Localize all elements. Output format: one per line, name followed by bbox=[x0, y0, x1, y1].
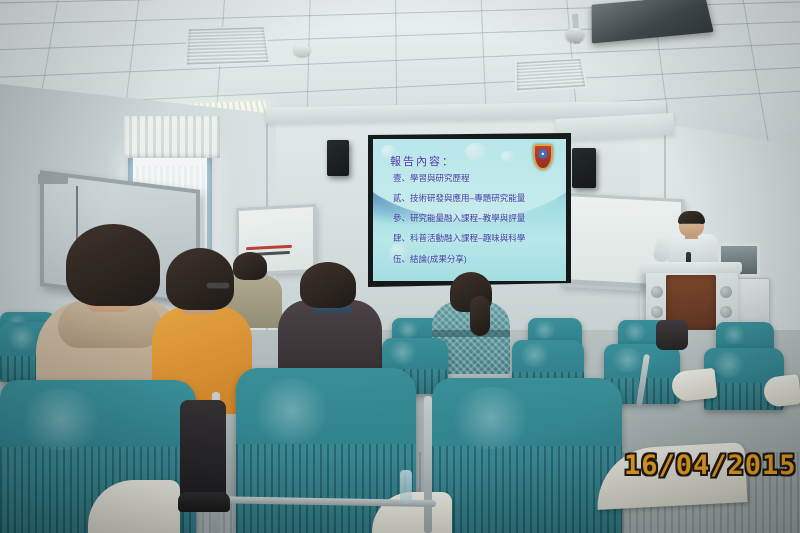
water-bottle bbox=[400, 470, 412, 504]
podium-knob-right bbox=[720, 286, 732, 298]
window-vertical-blinds bbox=[124, 116, 220, 158]
presenter-glasses bbox=[681, 223, 701, 227]
slide-bullet-4: 肆、科普活動融入課程–趣味與科學 bbox=[393, 232, 525, 244]
podium-knob-left bbox=[651, 286, 663, 298]
podium-top-surface bbox=[642, 262, 742, 273]
chair-highlight bbox=[610, 348, 645, 372]
ceiling-air-vent-right bbox=[515, 57, 588, 92]
slide-bullet-3: 參、研究能量融入課程–教學與評量 bbox=[393, 212, 525, 224]
chair-highlight bbox=[396, 321, 420, 339]
camera-date-stamp: 16/04/2015 bbox=[624, 450, 797, 481]
chair-highlight bbox=[622, 323, 648, 341]
bag-on-floor bbox=[656, 320, 688, 350]
grey-panel-rail bbox=[38, 174, 68, 184]
chair-slats bbox=[432, 446, 622, 533]
slide-bubble-3 bbox=[501, 151, 514, 162]
national-emblem bbox=[533, 144, 553, 170]
chair-highlight bbox=[447, 387, 534, 449]
attendee-shoe bbox=[178, 492, 230, 512]
slide-bullet-5: 伍、結論(成果分享) bbox=[393, 253, 467, 265]
wall-speaker-right bbox=[572, 148, 596, 188]
projected-slide: 報告內容： 壹、學習與研究歷程 貳、技術研發與應用–專題研究能量 參、研究能量融… bbox=[373, 139, 566, 281]
attendee-teal-top-ponytail bbox=[470, 296, 490, 336]
lecture-room-photo: 報告內容： 壹、學習與研究歷程 貳、技術研發與應用–專題研究能量 參、研究能量融… bbox=[0, 0, 800, 533]
slide-title: 報告內容： bbox=[390, 153, 455, 169]
attendee-dark-shirt-hair bbox=[300, 262, 356, 308]
chair-front-right bbox=[432, 378, 622, 533]
chair-highlight bbox=[250, 378, 333, 444]
chair-highlight bbox=[16, 389, 106, 450]
projector-lens bbox=[566, 28, 584, 42]
slide-bubble-2 bbox=[465, 143, 487, 161]
attendee-orange-shirt-hair bbox=[166, 248, 234, 310]
chair-highlight bbox=[6, 326, 38, 350]
emblem-sun-symbol bbox=[539, 149, 547, 158]
attendee-legs bbox=[180, 400, 226, 500]
chair-support-post-right bbox=[424, 396, 432, 533]
slide-bullet-1: 壹、學習與研究歷程 bbox=[393, 172, 470, 184]
attendee-orange-shirt-glasses bbox=[206, 282, 230, 289]
wall-speaker-left bbox=[327, 140, 349, 176]
chair-tablet-right-1 bbox=[671, 368, 718, 402]
ceiling-air-vent-left bbox=[185, 26, 271, 67]
projection-screen-frame: 報告內容： 壹、學習與研究歷程 貳、技術研發與應用–專題研究能量 參、研究能量融… bbox=[368, 133, 571, 287]
smoke-detector bbox=[294, 44, 310, 56]
podium-knob-right-lower bbox=[720, 306, 732, 318]
chair-highlight bbox=[710, 352, 747, 377]
podium-knob-left-lower bbox=[651, 306, 663, 318]
chair-highlight bbox=[721, 325, 748, 344]
chair-highlight bbox=[518, 343, 551, 366]
attendee-olive-shirt-hair bbox=[233, 252, 267, 280]
chair-highlight bbox=[532, 321, 557, 339]
chair-highlight bbox=[387, 341, 417, 363]
slide-bullet-2: 貳、技術研發與應用–專題研究能量 bbox=[393, 192, 525, 204]
attendee-beige-hoodie-hair bbox=[66, 224, 160, 306]
